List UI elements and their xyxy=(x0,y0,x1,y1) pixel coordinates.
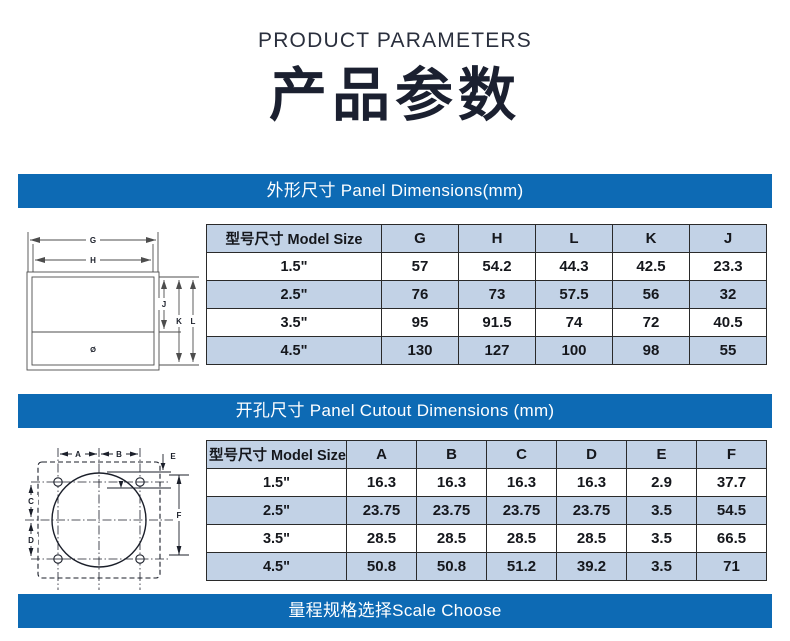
panel-cutout-section: A B C D E F 型号尺寸 Model Size A B C D xyxy=(0,440,790,590)
cell-value: 50.8 xyxy=(347,553,417,581)
cell-value: 16.3 xyxy=(347,469,417,497)
column-header: G xyxy=(382,225,459,253)
cell-value: 44.3 xyxy=(536,253,613,281)
label-C: C xyxy=(28,497,34,506)
panel-cutout-drawing: A B C D E F xyxy=(3,440,203,590)
cell-value: 28.5 xyxy=(487,525,557,553)
cell-value: 95 xyxy=(382,309,459,337)
cell-value: 39.2 xyxy=(557,553,627,581)
cell-value: 127 xyxy=(459,337,536,365)
cell-value: 23.75 xyxy=(417,497,487,525)
cell-value: 98 xyxy=(613,337,690,365)
column-header: A xyxy=(347,441,417,469)
page-title-english: PRODUCT PARAMETERS xyxy=(0,30,790,51)
cell-model-size: 3.5" xyxy=(207,309,382,337)
cell-value: 54.2 xyxy=(459,253,536,281)
column-header: H xyxy=(459,225,536,253)
label-F: F xyxy=(177,511,182,520)
column-header: J xyxy=(690,225,767,253)
column-header: K xyxy=(613,225,690,253)
label-L: L xyxy=(191,317,196,326)
section-banner-scale-choose: 量程规格选择Scale Choose xyxy=(18,594,772,628)
column-header: L xyxy=(536,225,613,253)
table-row: 3.5" 95 91.5 74 72 40.5 xyxy=(207,309,767,337)
label-G: G xyxy=(90,236,96,245)
table-row: 3.5" 28.5 28.5 28.5 28.5 3.5 66.5 xyxy=(207,525,767,553)
cell-value: 56 xyxy=(613,281,690,309)
cell-value: 16.3 xyxy=(487,469,557,497)
cell-value: 100 xyxy=(536,337,613,365)
cell-value: 74 xyxy=(536,309,613,337)
cell-model-size: 4.5" xyxy=(207,553,347,581)
page-title-chinese: 产品参数 xyxy=(0,63,790,128)
column-header: B xyxy=(417,441,487,469)
label-H: H xyxy=(90,256,96,265)
table-row: 4.5" 130 127 100 98 55 xyxy=(207,337,767,365)
column-header: E xyxy=(627,441,697,469)
cell-value: 51.2 xyxy=(487,553,557,581)
column-header: F xyxy=(697,441,767,469)
column-header: C xyxy=(487,441,557,469)
cell-value: 54.5 xyxy=(697,497,767,525)
cell-model-size: 1.5" xyxy=(207,253,382,281)
cell-value: 40.5 xyxy=(690,309,767,337)
cell-value: 76 xyxy=(382,281,459,309)
cell-value: 16.3 xyxy=(557,469,627,497)
panel-dimensions-drawing-wrap: G H J K L Ø xyxy=(0,224,206,376)
cell-value: 3.5 xyxy=(627,553,697,581)
cell-value: 66.5 xyxy=(697,525,767,553)
table-row: 1.5" 57 54.2 44.3 42.5 23.3 xyxy=(207,253,767,281)
column-header: 型号尺寸 Model Size xyxy=(207,225,382,253)
panel-cutout-table-wrap: 型号尺寸 Model Size A B C D E F 1.5" 16.3 16… xyxy=(206,440,790,581)
column-header: D xyxy=(557,441,627,469)
table-row: 1.5" 16.3 16.3 16.3 16.3 2.9 37.7 xyxy=(207,469,767,497)
label-A: A xyxy=(75,450,81,459)
cell-model-size: 2.5" xyxy=(207,281,382,309)
cell-value: 73 xyxy=(459,281,536,309)
cell-model-size: 2.5" xyxy=(207,497,347,525)
label-E: E xyxy=(170,452,176,461)
section-banner-panel-dimensions: 外形尺寸 Panel Dimensions(mm) xyxy=(18,174,772,208)
panel-cutout-drawing-wrap: A B C D E F xyxy=(0,440,206,590)
cell-value: 3.5 xyxy=(627,525,697,553)
cell-value: 32 xyxy=(690,281,767,309)
diameter-icon: Ø xyxy=(90,345,96,354)
cell-value: 57 xyxy=(382,253,459,281)
cell-model-size: 3.5" xyxy=(207,525,347,553)
cell-value: 28.5 xyxy=(417,525,487,553)
table-row: 2.5" 76 73 57.5 56 32 xyxy=(207,281,767,309)
section-banner-panel-cutout: 开孔尺寸 Panel Cutout Dimensions (mm) xyxy=(18,394,772,428)
cell-value: 50.8 xyxy=(417,553,487,581)
cell-value: 23.3 xyxy=(690,253,767,281)
cell-value: 2.9 xyxy=(627,469,697,497)
panel-outline-drawing: G H J K L Ø xyxy=(3,224,203,376)
panel-cutout-table: 型号尺寸 Model Size A B C D E F 1.5" 16.3 16… xyxy=(206,440,767,581)
cell-value: 28.5 xyxy=(347,525,417,553)
cell-value: 23.75 xyxy=(487,497,557,525)
panel-dimensions-section: G H J K L Ø 型号尺寸 Model Size G H L xyxy=(0,224,790,376)
cell-model-size: 4.5" xyxy=(207,337,382,365)
cell-model-size: 1.5" xyxy=(207,469,347,497)
cell-value: 23.75 xyxy=(347,497,417,525)
cell-value: 72 xyxy=(613,309,690,337)
cell-value: 16.3 xyxy=(417,469,487,497)
label-K: K xyxy=(176,317,182,326)
cell-value: 3.5 xyxy=(627,497,697,525)
panel-dimensions-table-wrap: 型号尺寸 Model Size G H L K J 1.5" 57 54.2 4… xyxy=(206,224,790,365)
cell-value: 57.5 xyxy=(536,281,613,309)
panel-dimensions-table: 型号尺寸 Model Size G H L K J 1.5" 57 54.2 4… xyxy=(206,224,767,365)
cell-value: 28.5 xyxy=(557,525,627,553)
label-J: J xyxy=(162,300,166,309)
cell-value: 42.5 xyxy=(613,253,690,281)
cell-value: 91.5 xyxy=(459,309,536,337)
cell-value: 37.7 xyxy=(697,469,767,497)
cell-value: 71 xyxy=(697,553,767,581)
cell-value: 23.75 xyxy=(557,497,627,525)
column-header: 型号尺寸 Model Size xyxy=(207,441,347,469)
table-header-row: 型号尺寸 Model Size A B C D E F xyxy=(207,441,767,469)
page-header: PRODUCT PARAMETERS 产品参数 xyxy=(0,0,790,128)
table-row: 2.5" 23.75 23.75 23.75 23.75 3.5 54.5 xyxy=(207,497,767,525)
table-row: 4.5" 50.8 50.8 51.2 39.2 3.5 71 xyxy=(207,553,767,581)
label-D: D xyxy=(28,536,34,545)
table-header-row: 型号尺寸 Model Size G H L K J xyxy=(207,225,767,253)
cell-value: 130 xyxy=(382,337,459,365)
cell-value: 55 xyxy=(690,337,767,365)
label-B: B xyxy=(116,450,122,459)
